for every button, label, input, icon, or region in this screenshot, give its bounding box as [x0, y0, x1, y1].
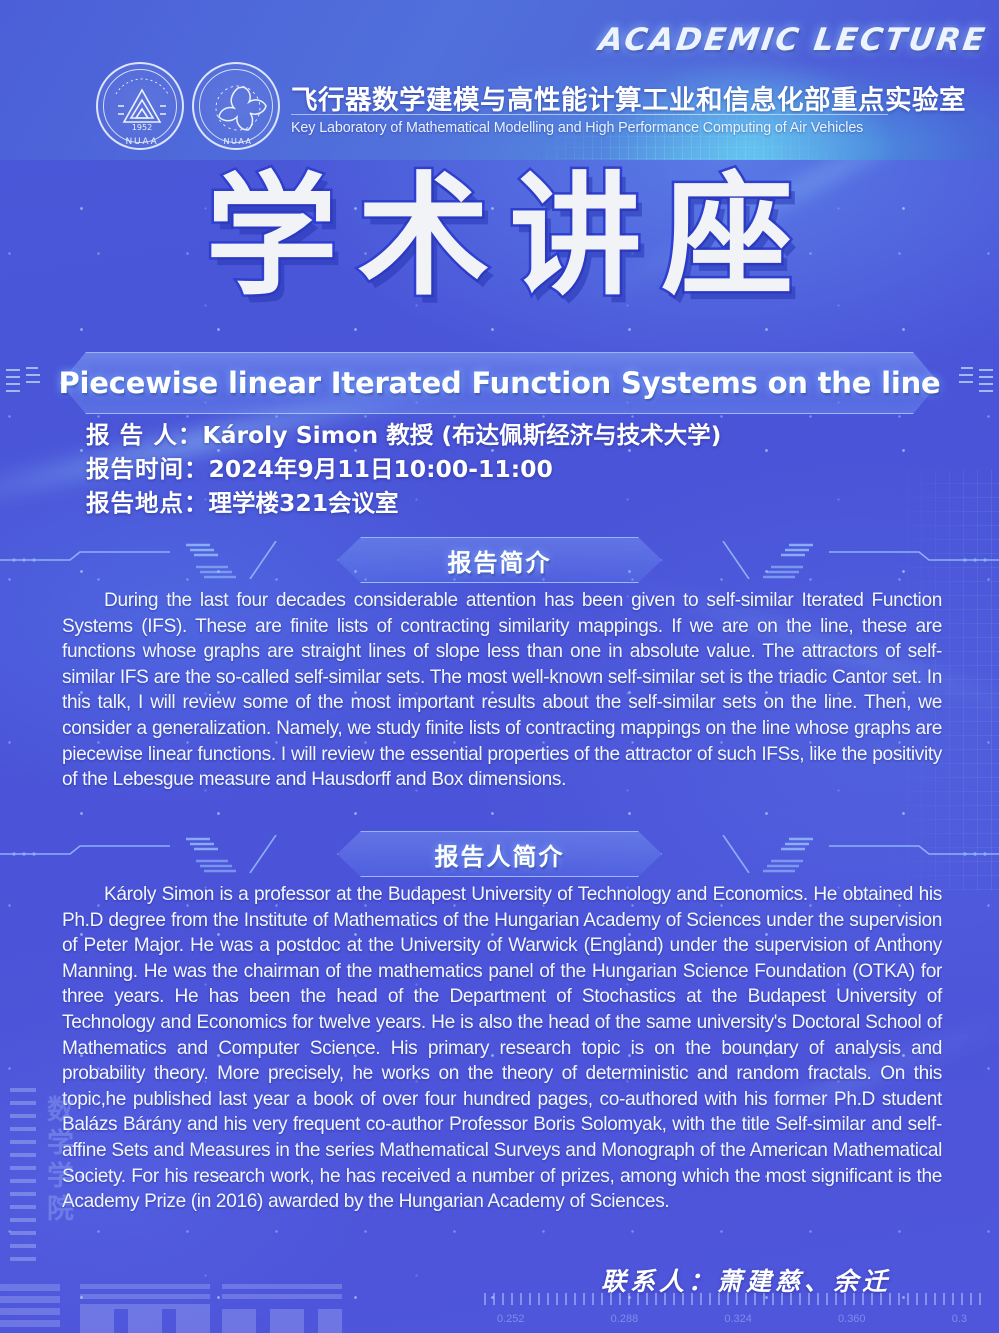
svg-text:NUAA: NUAA: [125, 137, 158, 147]
academic-lecture-badge: ACADEMIC LECTURE: [597, 22, 990, 58]
watermark-text: 数学学院: [44, 1095, 71, 1227]
bio-body: Károly Simon is a professor at the Budap…: [62, 882, 942, 1215]
abstract-paragraph: During the last four decades considerabl…: [62, 588, 942, 793]
tick-number: 0.324: [724, 1313, 752, 1325]
footer-tick-numbers: 0.252 0.288 0.324 0.360 0.3: [497, 1313, 967, 1325]
footer-bar-decoration: [0, 1277, 470, 1333]
tick-number: 0.288: [611, 1313, 639, 1325]
section-header-abstract: 报告简介: [0, 537, 999, 583]
edge-ladder-decoration: [10, 1088, 36, 1266]
svg-text:1952: 1952: [132, 123, 152, 132]
poster-root: ACADEMIC LECTURE 1952 NUAA: [0, 0, 999, 1333]
tick-number: 0.252: [497, 1313, 525, 1325]
section-title-bio: 报告人简介: [0, 831, 999, 877]
lecture-title-text: Piecewise linear Iterated Function Syste…: [0, 352, 999, 414]
section-header-bio: 报告人简介: [0, 831, 999, 877]
info-row-time: 报告时间：2024年9月11日10:00-11:00: [86, 452, 946, 486]
logo-group: 1952 NUAA NUAA: [96, 62, 280, 150]
tick-number: 0.360: [838, 1313, 866, 1325]
info-label-speaker: 报 告 人：: [86, 421, 202, 449]
info-value-location: 理学楼321会议室: [209, 489, 399, 517]
info-value-speaker: Károly Simon 教授 (布达佩斯经济与技术大学): [202, 421, 721, 449]
info-label-location: 报告地点：: [86, 489, 209, 517]
info-label-time: 报告时间：: [86, 455, 209, 483]
lecture-title-banner: Piecewise linear Iterated Function Syste…: [0, 352, 999, 414]
info-row-speaker: 报 告 人：Károly Simon 教授 (布达佩斯经济与技术大学): [86, 418, 946, 452]
svg-text:NUAA: NUAA: [223, 137, 252, 146]
lab-title-divider: [291, 114, 888, 115]
lab-title-english: Key Laboratory of Mathematical Modelling…: [291, 120, 863, 136]
abstract-body: During the last four decades considerabl…: [62, 588, 942, 793]
section-title-abstract: 报告简介: [0, 537, 999, 583]
bio-paragraph: Károly Simon is a professor at the Budap…: [62, 882, 942, 1215]
info-value-time: 2024年9月11日10:00-11:00: [209, 455, 553, 483]
nuaa-logo-primary: 1952 NUAA: [96, 62, 184, 150]
info-row-location: 报告地点：理学楼321会议室: [86, 486, 946, 520]
lab-title-chinese: 飞行器数学建模与高性能计算工业和信息化部重点实验室: [291, 78, 966, 117]
lecture-info-block: 报 告 人：Károly Simon 教授 (布达佩斯经济与技术大学) 报告时间…: [86, 418, 946, 520]
page-title: 学术讲座: [0, 166, 999, 309]
nuaa-logo-secondary: NUAA: [192, 62, 280, 150]
footer-tick-marks: [484, 1293, 984, 1305]
tick-number: 0.3: [952, 1313, 967, 1325]
